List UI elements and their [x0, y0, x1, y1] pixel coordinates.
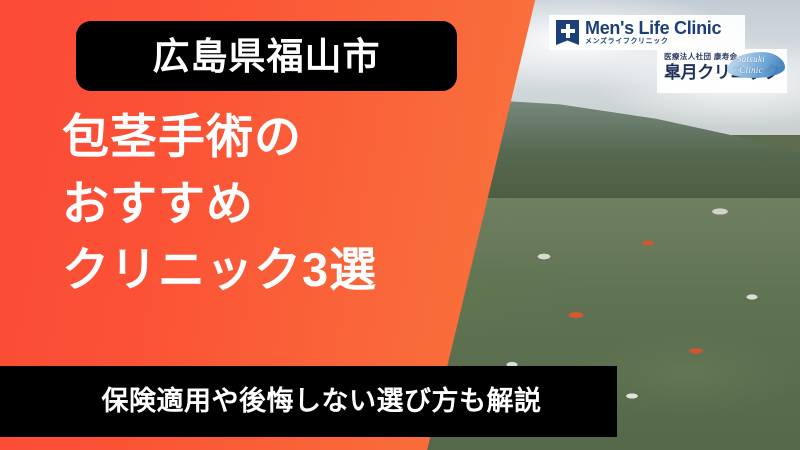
- logo-satsuki-clinic-name-en-line2: Clinic: [727, 65, 775, 76]
- logo-satsuki-clinic: Satsuki Clinic 医療法人社団 康寿会 皐月クリニック: [657, 49, 787, 93]
- cross-icon: [561, 24, 575, 38]
- location-badge-label: 広島県福山市: [153, 38, 381, 75]
- headline-line-2: おすすめ: [62, 171, 482, 238]
- logo-mens-life-clinic-name-ja: メンズライフクリニック: [585, 38, 721, 46]
- logo-mens-life-clinic-wordmark: Men's Life Clinic メンズライフクリニック: [585, 19, 721, 46]
- headline-line-1: 包茎手術の: [62, 104, 482, 171]
- logo-satsuki-clinic-name-en: Satsuki Clinic: [727, 54, 775, 77]
- page-title: 包茎手術の おすすめ クリニック3選: [62, 104, 482, 304]
- subtitle-bar: 保険適用や後悔しない選び方も解説: [0, 366, 617, 437]
- headline-line-3: クリニック3選: [62, 237, 482, 304]
- logo-mens-life-clinic: Men's Life Clinic メンズライフクリニック: [549, 15, 745, 50]
- logo-mens-life-clinic-name-en: Men's Life Clinic: [585, 19, 721, 38]
- subtitle-label: 保険適用や後悔しない選び方も解説: [76, 388, 542, 415]
- thumbnail-banner: 広島県福山市 包茎手術の おすすめ クリニック3選 保険適用や後悔しない選び方も…: [0, 0, 800, 450]
- location-badge: 広島県福山市: [76, 21, 457, 91]
- shield-cross-icon: [556, 20, 579, 45]
- logo-satsuki-clinic-name-en-line1: Satsuki: [727, 54, 775, 65]
